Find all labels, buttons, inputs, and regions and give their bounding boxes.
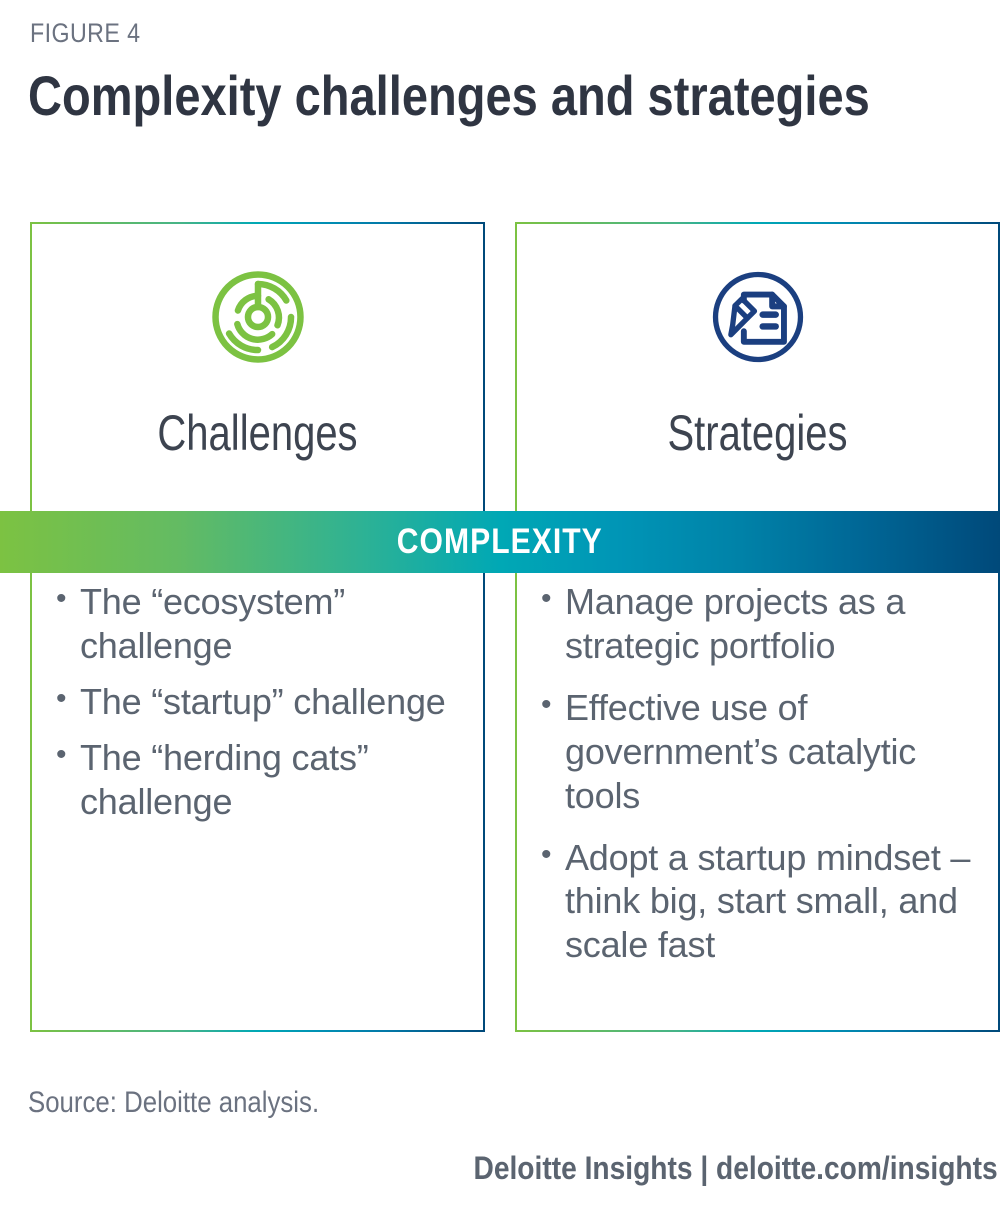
strategies-list: Manage projects as a strategic portfolio… (515, 580, 1000, 985)
list-item: The “ecosystem” challenge (54, 580, 459, 668)
column-heading: Strategies (564, 404, 952, 462)
page-title: Complexity challenges and strategies (28, 68, 870, 124)
figure-label: FIGURE 4 (30, 18, 141, 49)
complexity-banner: COMPLEXITY (0, 511, 1000, 573)
list-item: The “startup” challenge (54, 680, 459, 724)
list-item: Effective use of government’s catalytic … (539, 686, 980, 818)
maze-icon (30, 254, 485, 379)
banner-label: COMPLEXITY (397, 522, 603, 562)
list-item: Manage projects as a strategic portfolio (539, 580, 980, 668)
list-item: The “herding cats” challenge (54, 736, 459, 824)
challenges-list: The “ecosystem” challenge The “startup” … (30, 580, 485, 836)
column-heading: Challenges (76, 404, 440, 462)
list-item: Adopt a startup mindset – think big, sta… (539, 836, 980, 968)
brand-footer: Deloitte Insights | deloitte.com/insight… (474, 1150, 998, 1187)
column-strategies: Strategies Manage projects as a strategi… (515, 222, 1000, 1032)
source-note: Source: Deloitte analysis. (28, 1086, 319, 1120)
column-challenges: Challenges The “ecosystem” challenge The… (30, 222, 485, 1032)
document-pencil-icon (515, 254, 1000, 379)
columns-container: Challenges The “ecosystem” challenge The… (0, 222, 1000, 1032)
